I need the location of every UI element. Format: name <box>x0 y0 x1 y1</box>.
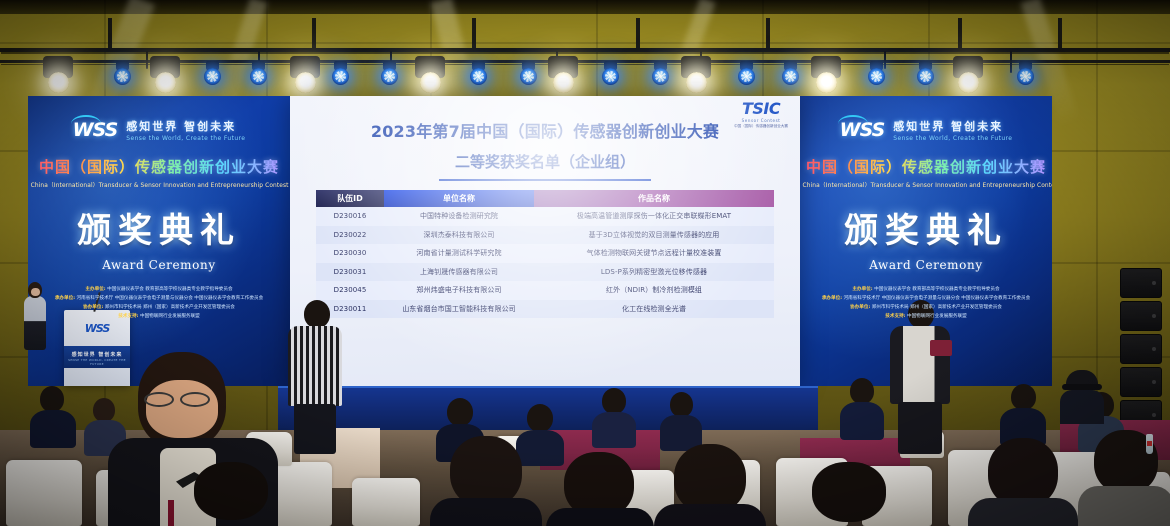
foreground-attendee <box>654 444 766 526</box>
standing-attendee <box>288 300 342 450</box>
table-row: D230030 河南省计量测试科学研究院 气体检测物联网关键节点远程计量校准装置 <box>316 244 774 263</box>
cell-team-id: D230045 <box>316 281 384 300</box>
tagline-en: Sense the World, Create the Future <box>893 135 1012 142</box>
cell-work-name: 极端高温管道测厚探伤一体化正交串联蝶形EMAT <box>534 207 774 226</box>
wss-logo-row: WSS 感知世界 智创未来 Sense the World, Create th… <box>28 118 290 142</box>
power-cable <box>1010 51 1012 73</box>
ceremony-title-cn: 颁奖典礼 <box>28 203 290 252</box>
credit-label: 主办单位: <box>85 287 105 292</box>
speaker-cabinet <box>1120 301 1162 331</box>
wss-logo: WSS <box>73 119 118 141</box>
tagline-cn: 感知世界 智创未来 <box>126 118 245 134</box>
truss-post <box>766 18 770 48</box>
table-row: D230022 深圳杰泰科技有限公司 基于3D立体视觉的双目测量传感器的应用 <box>316 226 774 245</box>
wss-logo: WSS <box>840 119 885 141</box>
truss-post <box>958 18 962 48</box>
cell-organization: 山东省烟台市国工智能科技有限公司 <box>384 300 534 319</box>
truss-post <box>472 18 476 48</box>
tsic-subtitle-cn: 中国（国际）传感器创新创业大赛 <box>734 124 788 129</box>
credit-label: 技术支持: <box>885 314 905 319</box>
ceremony-title-cn: 颁奖典礼 <box>800 203 1052 252</box>
column-header-team-id: 队伍ID <box>316 190 384 207</box>
speaker-cabinet <box>1120 367 1162 397</box>
tsic-logo-text: TSIC <box>734 101 788 117</box>
truss-post <box>1058 18 1062 48</box>
table-row: D230045 郑州炜盛电子科技有限公司 红外（NDIR）制冷剂检测模组 <box>316 281 774 300</box>
tagline-en: Sense the World, Create the Future <box>126 135 245 142</box>
table-header-row: 队伍ID 单位名称 作品名称 <box>316 190 774 207</box>
cell-team-id: D230031 <box>316 263 384 282</box>
table-row: D230011 山东省烟台市国工智能科技有限公司 化工在线检测全光谱 <box>316 300 774 319</box>
audience-member <box>840 378 884 438</box>
credit-text: 中国仪器仪表学会 教育部高等学校仪器类专业教学指导委员会 <box>107 287 233 292</box>
foreground-attendee <box>430 436 542 526</box>
ceremony-title-en: Award Ceremony <box>28 258 290 272</box>
stage-scene: WSS 感知世界 智创未来 Sense the World, Create th… <box>0 0 1170 526</box>
credit-text: 中国物联网行业发展服务联盟 <box>140 314 200 319</box>
contest-title-cn: 中国（国际）传感器创新创业大赛 <box>800 156 1052 177</box>
foreground-attendee <box>170 462 290 526</box>
audience-member-with-cap <box>1060 370 1104 424</box>
led-panel-right: WSS 感知世界 智创未来 Sense the World, Create th… <box>800 96 1052 386</box>
foreground-attendee <box>1078 430 1170 526</box>
credit-text: 河南省科学技术厅 中国仪器仪表学会电子测量与仪器分会 中国仪器仪表学会教育工作委… <box>77 296 264 301</box>
credit-text: 河南省科学技术厅 中国仪器仪表学会电子测量与仪器分会 中国仪器仪表学会教育工作委… <box>844 296 1031 301</box>
lighting-truss <box>0 44 1170 96</box>
column-header-organization: 单位名称 <box>384 190 534 207</box>
credit-label: 承办单位: <box>55 296 75 301</box>
foreground-attendee <box>790 462 906 526</box>
speaker-array <box>1120 268 1162 418</box>
wss-arc-icon <box>838 115 868 124</box>
cell-organization: 上海钊晟传感器有限公司 <box>384 263 534 282</box>
truss-post <box>108 18 112 48</box>
audience-member <box>30 386 76 446</box>
cell-work-name: 基于3D立体视觉的双目测量传感器的应用 <box>534 226 774 245</box>
cell-team-id: D230016 <box>316 207 384 226</box>
award-list-table: 队伍ID 单位名称 作品名称 D230016 中国特种设备检测研究院 极端高温管… <box>316 190 774 318</box>
credit-label: 技术支持: <box>118 314 138 319</box>
tsic-logo: TSIC Sensor Contest 中国（国际）传感器创新创业大赛 <box>734 101 788 129</box>
ceremony-title-en: Award Ceremony <box>800 258 1052 272</box>
truss-bar <box>0 48 1170 52</box>
credit-text: 中国物联网行业发展服务联盟 <box>907 314 967 319</box>
tsic-subtitle: Sensor Contest <box>734 118 788 123</box>
credit-text: 郑州市科学技术局 郑州（国家）高新技术产业开发区管理委员会 <box>872 305 1002 310</box>
projection-screen: TSIC Sensor Contest 中国（国际）传感器创新创业大赛 2023… <box>290 96 800 388</box>
chair <box>352 478 420 526</box>
tagline-cn: 感知世界 智创未来 <box>893 118 1012 134</box>
audience-member <box>1000 384 1046 444</box>
speaker-cabinet <box>1120 268 1162 298</box>
cell-work-name: 红外（NDIR）制冷剂检测模组 <box>534 281 774 300</box>
cell-organization: 郑州炜盛电子科技有限公司 <box>384 281 534 300</box>
credit-label: 承办单位: <box>822 296 842 301</box>
cell-organization: 河南省计量测试科学研究院 <box>384 244 534 263</box>
table-row: D230031 上海钊晟传感器有限公司 LDS-P系列精密型激光位移传感器 <box>316 263 774 282</box>
cell-work-name: 气体检测物联网关键节点远程计量校准装置 <box>534 244 774 263</box>
power-cable <box>884 51 886 69</box>
credit-label: 协办单位: <box>83 305 103 310</box>
organizer-credits: 主办单位: 中国仪器仪表学会 教育部高等学校仪器类专业教学指导委员会 承办单位:… <box>800 286 1052 322</box>
ceiling-band <box>0 0 1170 14</box>
led-panel-left: WSS 感知世界 智创未来 Sense the World, Create th… <box>28 96 290 386</box>
speaker-cabinet <box>1120 334 1162 364</box>
truss-post <box>312 18 316 48</box>
credit-label: 主办单位: <box>852 287 872 292</box>
contest-title-cn: 中国（国际）传感器创新创业大赛 <box>28 156 290 177</box>
credit-text: 郑州市科学技术局 郑州（国家）高新技术产业开发区管理委员会 <box>105 305 235 310</box>
chair <box>6 460 82 526</box>
contest-title-en: China（International）Transducer & Sensor … <box>803 180 1050 189</box>
column-header-work-name: 作品名称 <box>534 190 774 207</box>
wss-arc-icon <box>71 115 101 124</box>
truss-post <box>636 18 640 48</box>
credit-label: 协办单位: <box>850 305 870 310</box>
audience-member <box>592 388 636 446</box>
contest-title-en: China（International）Transducer & Sensor … <box>31 180 288 189</box>
organizer-credits: 主办单位: 中国仪器仪表学会 教育部高等学校仪器类专业教学指导委员会 承办单位:… <box>28 286 290 322</box>
credit-text: 中国仪器仪表学会 教育部高等学校仪器类专业教学指导委员会 <box>874 287 1000 292</box>
cell-organization: 深圳杰泰科技有限公司 <box>384 226 534 245</box>
slide-title-line2: 二等奖获奖名单（企业组） <box>316 151 774 172</box>
foreground-attendee <box>546 452 654 526</box>
wss-logo-row: WSS 感知世界 智创未来 Sense the World, Create th… <box>800 118 1052 142</box>
table-row: D230016 中国特种设备检测研究院 极端高温管道测厚探伤一体化正交串联蝶形E… <box>316 207 774 226</box>
cell-organization: 中国特种设备检测研究院 <box>384 207 534 226</box>
water-bottle <box>1146 434 1153 454</box>
slide-title-line1: 2023年第7届中国（国际）传感器创新创业大赛 <box>316 118 774 142</box>
title-underline <box>439 179 651 181</box>
cell-work-name: 化工在线检测全光谱 <box>534 300 774 319</box>
cell-team-id: D230030 <box>316 244 384 263</box>
audience-member <box>660 392 702 448</box>
cell-team-id: D230022 <box>316 226 384 245</box>
foreground-attendee <box>968 438 1078 526</box>
slide-content: TSIC Sensor Contest 中国（国际）传感器创新创业大赛 2023… <box>290 96 800 388</box>
cell-work-name: LDS-P系列精密型激光位移传感器 <box>534 263 774 282</box>
power-cable <box>146 51 148 69</box>
